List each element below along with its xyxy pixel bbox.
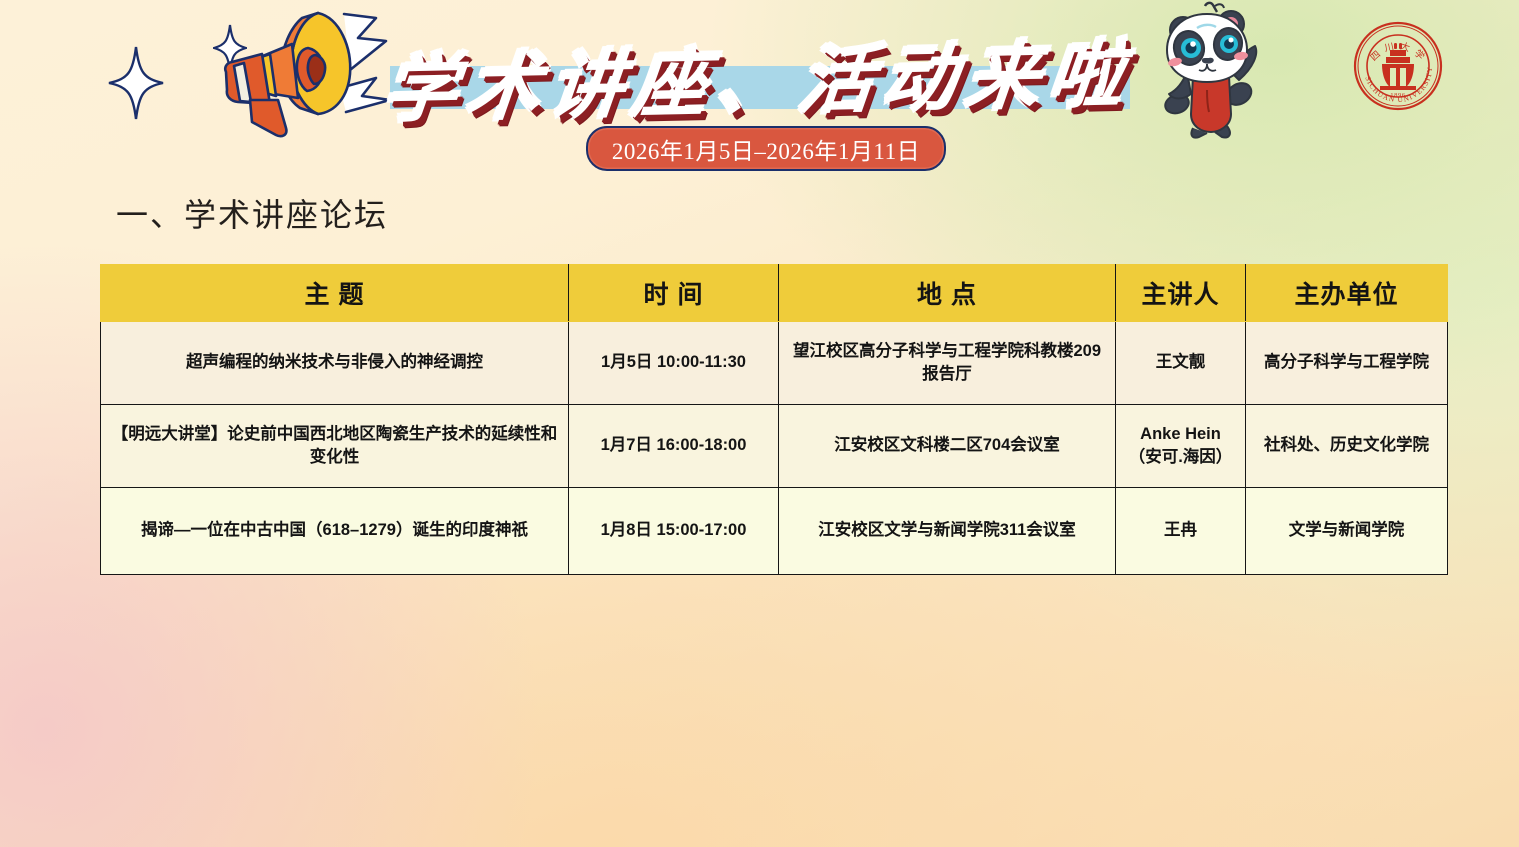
- cell-topic: 【明远大讲堂】论史前中国西北地区陶瓷生产技术的延续性和变化性: [101, 405, 569, 488]
- cell-location: 江安校区文学与新闻学院311会议室: [779, 488, 1116, 575]
- column-header-organizer: 主办单位: [1246, 265, 1448, 322]
- cell-organizer: 社科处、历史文化学院: [1246, 405, 1448, 488]
- date-range-label: 2026年1月5日–2026年1月11日: [612, 132, 920, 166]
- schedule-table: 主 题 时 间 地 点 主讲人 主办单位 超声编程的纳米技术与非侵入的神经调控 …: [100, 264, 1448, 575]
- poster-canvas: 学术讲座、活动来啦 2026年1月5日–2026年1月11日: [0, 0, 1519, 847]
- university-logo-icon: 四川大学 SICHUAN UNIVERSITY 1896: [1352, 20, 1444, 112]
- column-header-location: 地 点: [779, 265, 1116, 322]
- panda-mascot-icon: [1143, 0, 1273, 140]
- cell-organizer: 高分子科学与工程学院: [1246, 322, 1448, 405]
- page-title: 学术讲座、活动来啦: [372, 12, 1145, 138]
- table-row: 揭谛—一位在中古中国（618–1279）诞生的印度神祇 1月8日 15:00-1…: [101, 488, 1448, 575]
- cell-speaker: Anke Hein（安可.海因）: [1116, 405, 1246, 488]
- cell-location: 望江校区高分子科学与工程学院科教楼209报告厅: [779, 322, 1116, 405]
- cell-speaker: 王文靓: [1116, 322, 1246, 405]
- table-header-row: 主 题 时 间 地 点 主讲人 主办单位: [101, 265, 1448, 322]
- section-heading: 一、学术讲座论坛: [116, 190, 388, 236]
- cell-topic: 揭谛—一位在中古中国（618–1279）诞生的印度神祇: [101, 488, 569, 575]
- column-header-topic: 主 题: [101, 265, 569, 322]
- table-row: 超声编程的纳米技术与非侵入的神经调控 1月5日 10:00-11:30 望江校区…: [101, 322, 1448, 405]
- cell-location: 江安校区文科楼二区704会议室: [779, 405, 1116, 488]
- poster-title-block: 学术讲座、活动来啦: [378, 20, 1138, 130]
- logo-year: 1896: [1390, 92, 1406, 99]
- sparkle-star-icon: [108, 46, 164, 120]
- megaphone-icon: [190, 8, 400, 138]
- column-header-speaker: 主讲人: [1116, 265, 1246, 322]
- cell-speaker: 王冉: [1116, 488, 1246, 575]
- cell-time: 1月7日 16:00-18:00: [569, 405, 779, 488]
- cell-topic: 超声编程的纳米技术与非侵入的神经调控: [101, 322, 569, 405]
- schedule-table-wrapper: 主 题 时 间 地 点 主讲人 主办单位 超声编程的纳米技术与非侵入的神经调控 …: [100, 264, 1447, 575]
- table-row: 【明远大讲堂】论史前中国西北地区陶瓷生产技术的延续性和变化性 1月7日 16:0…: [101, 405, 1448, 488]
- column-header-time: 时 间: [569, 265, 779, 322]
- date-range-badge: 2026年1月5日–2026年1月11日: [586, 126, 946, 171]
- cell-time: 1月5日 10:00-11:30: [569, 322, 779, 405]
- cell-organizer: 文学与新闻学院: [1246, 488, 1448, 575]
- cell-time: 1月8日 15:00-17:00: [569, 488, 779, 575]
